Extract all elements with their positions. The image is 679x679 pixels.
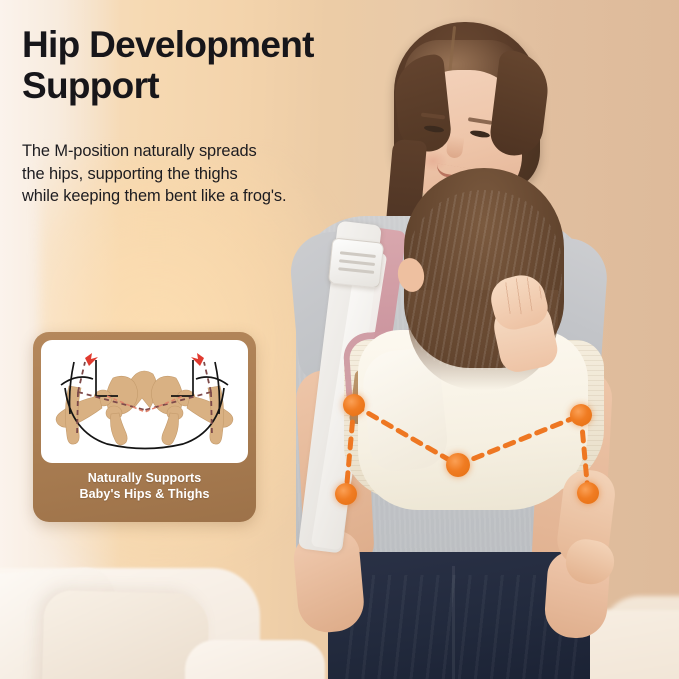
subtitle-line-3: while keeping them bent like a frog's.: [22, 185, 382, 208]
headline-line-1: Hip Development: [22, 24, 422, 65]
page-title: Hip Development Support: [22, 24, 422, 107]
hip-diagram-caption: Naturally Supports Baby's Hips & Thighs: [33, 471, 256, 502]
arrow-marker: [85, 353, 204, 366]
left-shoulder-anchor: [343, 394, 365, 416]
right-knee-anchor: [577, 482, 599, 504]
subtitle-line-1: The M-position naturally spreads: [22, 140, 382, 163]
page-subtitle: The M-position naturally spreads the hip…: [22, 140, 382, 208]
left-knee-anchor: [335, 483, 357, 505]
hip-anatomy-illustration: [41, 340, 248, 463]
product-feature-banner: Naturally Supports Baby's Hips & Thighs …: [0, 0, 679, 679]
hip-diagram-card: Naturally Supports Baby's Hips & Thighs: [33, 332, 256, 522]
center-seat-anchor: [446, 453, 470, 477]
subtitle-line-2: the hips, supporting the thighs: [22, 163, 382, 186]
caption-line-2: Baby's Hips & Thighs: [33, 487, 256, 503]
caption-line-1: Naturally Supports: [33, 471, 256, 487]
hip-diagram-image: [41, 340, 248, 463]
right-shoulder-anchor: [570, 404, 592, 426]
headline-line-2: Support: [22, 65, 422, 106]
